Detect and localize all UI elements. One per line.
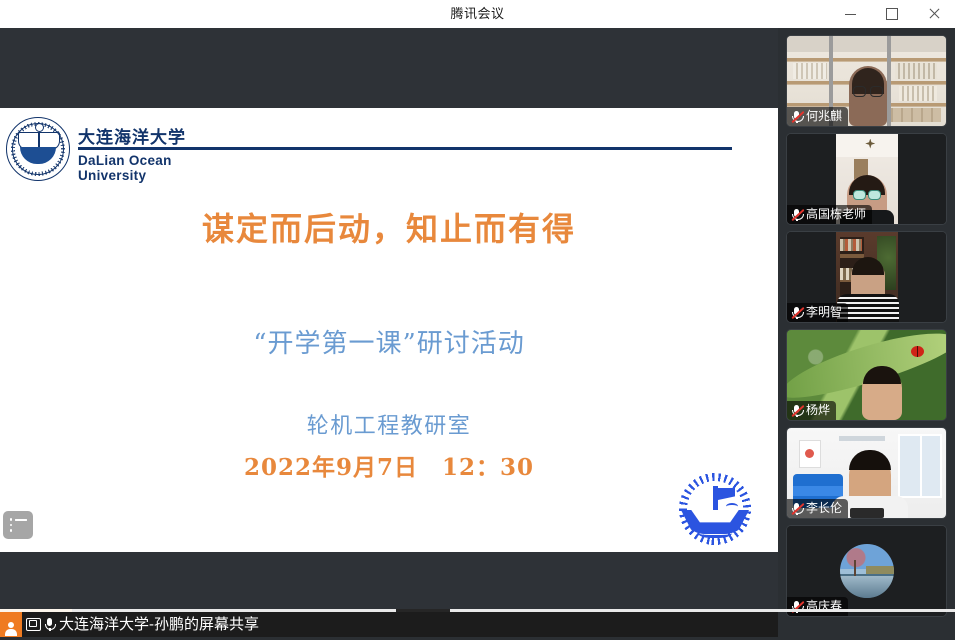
participant-label: 杨烨 bbox=[787, 401, 836, 420]
university-name-en: DaLian Ocean University bbox=[78, 153, 172, 183]
presenter-status-bar: 大连海洋大学-孙鹏的屏幕共享 bbox=[0, 612, 276, 637]
person-icon bbox=[0, 612, 22, 637]
tencent-meeting-window: 腾讯会议 bbox=[0, 0, 955, 640]
participant-label: 李明智 bbox=[787, 303, 848, 322]
participant-name: 高国栋老师 bbox=[806, 205, 866, 224]
participant-label: 何兆麒 bbox=[787, 107, 848, 126]
presenter-icons bbox=[22, 618, 58, 631]
participant-label: 高国栋老师 bbox=[787, 205, 872, 224]
participant-name: 何兆麒 bbox=[806, 107, 842, 126]
university-letterhead: 大连海洋大学 DaLian Ocean University bbox=[6, 117, 736, 183]
avatar bbox=[840, 544, 894, 598]
participant-list-toggle-button[interactable] bbox=[3, 511, 33, 539]
presentation-slide: 大连海洋大学 DaLian Ocean University 谋定而后动，知止而… bbox=[0, 108, 778, 552]
shared-screen-region[interactable]: 大连海洋大学 DaLian Ocean University 谋定而后动，知止而… bbox=[0, 28, 778, 612]
letterhead-divider bbox=[78, 147, 732, 150]
close-icon bbox=[928, 8, 940, 20]
participant-tile[interactable]: 何兆麒 bbox=[787, 36, 946, 126]
mic-muted-icon bbox=[791, 110, 803, 124]
slide-datetime: 2022年9月7日 12：30 bbox=[0, 448, 778, 482]
presenter-label: 大连海洋大学-孙鹏的屏幕共享 bbox=[58, 612, 259, 637]
mic-muted-icon bbox=[791, 502, 803, 516]
minimize-icon bbox=[845, 14, 856, 15]
participant-filmstrip[interactable]: 何兆麒 高国栋老师 bbox=[778, 28, 955, 640]
mic-muted-icon bbox=[791, 306, 803, 320]
screen-share-icon bbox=[26, 618, 41, 631]
mic-muted-icon bbox=[791, 404, 803, 418]
participant-name: 杨烨 bbox=[806, 401, 830, 420]
participant-tile[interactable]: 高国栋老师 bbox=[787, 134, 946, 224]
slide-subtitle: “开学第一课”研讨活动 bbox=[0, 323, 778, 360]
participant-name: 李长伦 bbox=[806, 499, 842, 518]
participant-name: 李明智 bbox=[806, 303, 842, 322]
participant-tile[interactable]: 杨烨 bbox=[787, 330, 946, 420]
taskbar-window-1[interactable] bbox=[0, 609, 72, 612]
participant-tile[interactable]: 高庆春 bbox=[787, 526, 946, 616]
window-title: 腾讯会议 bbox=[0, 0, 955, 28]
slide-title: 谋定而后动，知止而有得 bbox=[0, 204, 778, 250]
minimize-button[interactable] bbox=[829, 0, 871, 28]
university-name-en-line2: University bbox=[78, 168, 172, 183]
taskbar-window-2[interactable] bbox=[396, 609, 450, 612]
university-name-cn: 大连海洋大学 bbox=[78, 123, 186, 148]
slide-department: 轮机工程教研室 bbox=[0, 408, 778, 440]
window-controls bbox=[829, 0, 955, 28]
close-button[interactable] bbox=[913, 0, 955, 28]
participant-tile[interactable]: 李长伦 bbox=[787, 428, 946, 518]
mic-muted-icon bbox=[791, 208, 803, 222]
participant-tile[interactable]: 李明智 bbox=[787, 232, 946, 322]
shared-screen-letterbox-top bbox=[0, 28, 778, 108]
list-icon bbox=[10, 519, 27, 532]
participant-label: 高庆春 bbox=[787, 597, 848, 616]
meeting-body: 大连海洋大学 DaLian Ocean University 谋定而后动，知止而… bbox=[0, 28, 955, 640]
school-of-navigation-logo-icon bbox=[676, 470, 754, 548]
university-name-en-line1: DaLian Ocean bbox=[78, 153, 172, 168]
university-crest-icon bbox=[6, 117, 70, 181]
shared-screen-letterbox-bottom bbox=[0, 552, 778, 612]
participant-name: 高庆春 bbox=[806, 597, 842, 616]
os-taskbar[interactable] bbox=[0, 609, 955, 612]
participant-label: 李长伦 bbox=[787, 499, 848, 518]
microphone-icon bbox=[44, 618, 55, 631]
title-bar: 腾讯会议 bbox=[0, 0, 955, 29]
maximize-button[interactable] bbox=[871, 0, 913, 28]
maximize-icon bbox=[886, 8, 898, 20]
